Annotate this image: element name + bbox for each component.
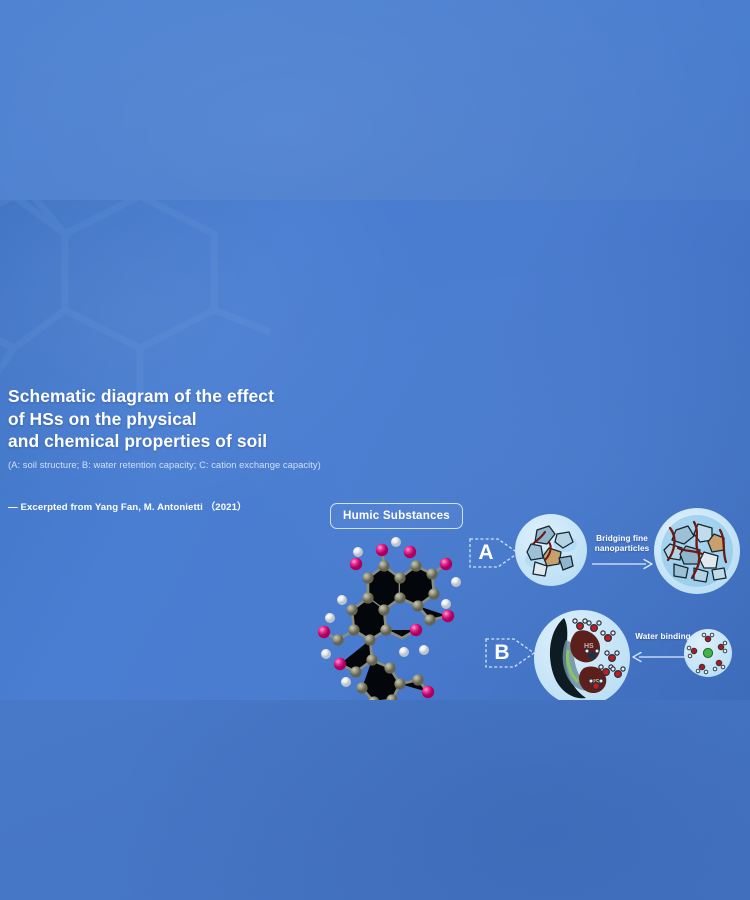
page-title-line-3: and chemical properties of soil bbox=[8, 430, 348, 453]
page-title-line-1: Schematic diagram of the effect bbox=[8, 385, 348, 408]
page-title-line-2: of HSs on the physical bbox=[8, 408, 348, 431]
panel-a-arrow-right-icon bbox=[592, 557, 654, 571]
panel-a-transition-line-1: Bridging fine bbox=[583, 534, 661, 544]
hydrated-cation-icon bbox=[684, 629, 732, 677]
panel-a-letter-badge: A bbox=[468, 529, 522, 577]
figure-text-block: Schematic diagram of the effect of HSs o… bbox=[8, 385, 348, 513]
figure-citation: — Excerpted from Yang Fan, M. Antonietti… bbox=[8, 499, 348, 513]
panel-b-before-circle: HS HS bbox=[534, 610, 630, 700]
panel-b-letter-badge: B bbox=[484, 629, 538, 677]
humic-substance-molecule-icon bbox=[296, 522, 496, 700]
panel-b-after-circle bbox=[684, 629, 732, 677]
panel-a-letter: A bbox=[473, 538, 499, 568]
figure-subtitle: (A: soil structure; B: water retention c… bbox=[8, 458, 348, 471]
loose-soil-particles-icon bbox=[515, 514, 587, 586]
figure-canvas: Schematic diagram of the effect of HSs o… bbox=[0, 0, 750, 900]
humic-substance-water-molecules-icon: HS HS bbox=[534, 610, 630, 700]
panel-a-transition-line-2: nanoparticles bbox=[583, 544, 661, 554]
panel-b-letter: B bbox=[489, 638, 515, 668]
page-title: Schematic diagram of the effect of HSs o… bbox=[8, 385, 348, 453]
molecular-watermark-icon bbox=[0, 200, 310, 412]
diagram-panel: Schematic diagram of the effect of HSs o… bbox=[0, 200, 750, 700]
panel-a-after-circle bbox=[654, 508, 740, 594]
panel-a-before-circle bbox=[515, 514, 587, 586]
aggregated-soil-particles-icon bbox=[654, 508, 740, 594]
panel-a-transition-label: Bridging fine nanoparticles bbox=[583, 534, 661, 554]
